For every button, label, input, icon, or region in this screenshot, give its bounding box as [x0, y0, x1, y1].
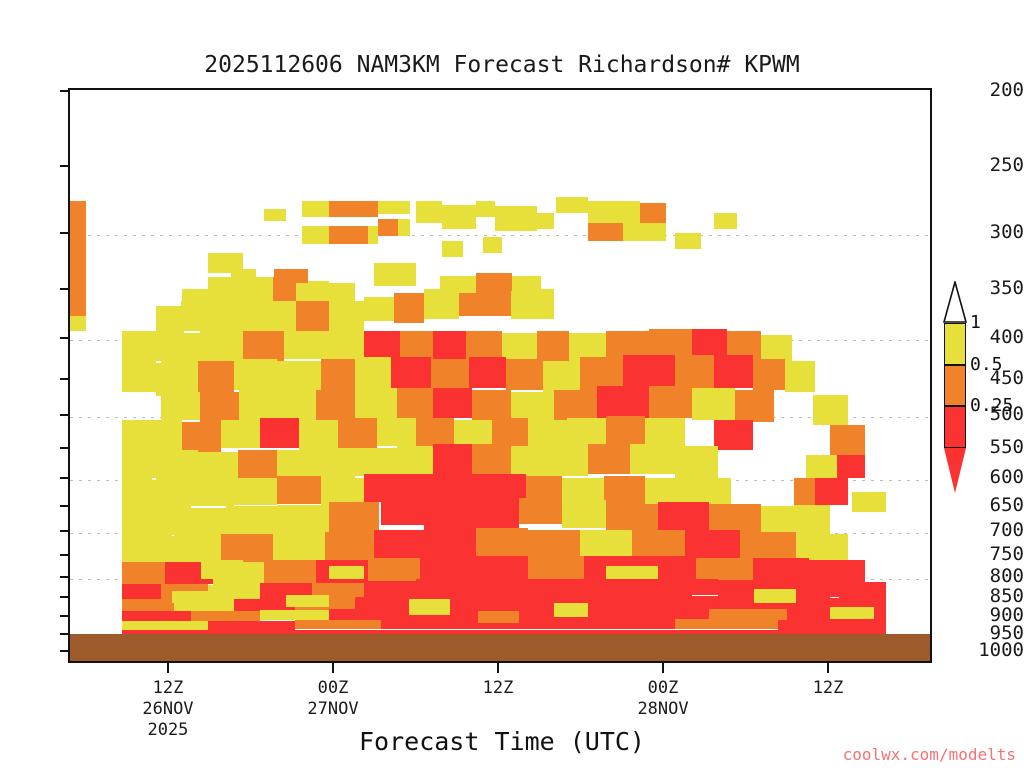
heatmap-cell	[374, 263, 415, 286]
heatmap-cell	[433, 444, 472, 474]
heatmap-cell	[446, 474, 485, 500]
heatmap-cell	[476, 273, 512, 291]
heatmap-cell	[397, 388, 433, 418]
heatmap-cell	[70, 316, 86, 331]
colorbar-below-arrow	[944, 448, 966, 493]
heatmap-cell	[433, 331, 466, 359]
heatmap-cell	[839, 582, 887, 598]
heatmap-cell	[740, 532, 796, 560]
heatmap-cell	[528, 530, 580, 558]
heatmap-cell	[785, 361, 814, 393]
y-axis-tick	[60, 615, 70, 617]
heatmap-cell	[416, 201, 442, 223]
heatmap-cell	[495, 206, 536, 231]
heatmap-cell	[329, 201, 377, 217]
x-axis-label: 12Z	[438, 678, 558, 699]
heatmap-cell	[172, 591, 208, 603]
heatmap-cell	[364, 581, 416, 597]
heatmap-cell	[409, 599, 450, 615]
heatmap-cell	[221, 420, 260, 448]
heatmap-cell	[398, 219, 409, 236]
heatmap-cell	[122, 621, 208, 630]
y-axis-tick	[60, 633, 70, 635]
x-axis-label-group: 00Z28NOV	[603, 678, 723, 720]
heatmap-cell	[426, 528, 476, 556]
heatmap-cell	[588, 223, 623, 241]
heatmap-cell	[472, 390, 511, 420]
heatmap-cell	[692, 388, 735, 420]
heatmap-cell	[391, 357, 431, 389]
heatmap-cell	[191, 611, 260, 621]
heatmap-cell	[809, 560, 865, 584]
heatmap-cell	[632, 608, 710, 619]
heatmap-cell	[416, 579, 476, 595]
heatmap-cell	[208, 621, 294, 630]
colorbar-segment	[944, 406, 966, 448]
y-axis-tick	[60, 288, 70, 290]
heatmap-cell	[580, 530, 632, 558]
heatmap-cell	[238, 450, 277, 478]
y-axis-label: 300	[968, 221, 1024, 243]
heatmap-cell	[483, 237, 502, 253]
heatmap-cell	[329, 502, 379, 532]
watermark: coolwx.com/modelts	[843, 745, 1016, 764]
heatmap-cell	[296, 301, 329, 331]
heatmap-cell	[182, 422, 221, 452]
heatmap-cell	[264, 560, 316, 584]
heatmap-cell	[355, 448, 396, 476]
plot-area	[68, 88, 932, 663]
heatmap-cell	[685, 530, 739, 558]
heatmap-cell	[198, 361, 234, 393]
heatmap-cell	[476, 201, 495, 217]
heatmap-cell	[226, 506, 278, 536]
heatmap-cell	[442, 205, 477, 229]
heatmap-cell	[597, 386, 649, 418]
heatmap-cell	[277, 505, 329, 535]
heatmap-cell	[181, 301, 210, 331]
heatmap-cell	[815, 478, 848, 505]
y-axis-tick	[60, 650, 70, 652]
y-axis-label: 200	[968, 79, 1024, 101]
heatmap-cell	[632, 530, 686, 558]
heatmap-cell	[424, 500, 519, 530]
heatmap-cell	[478, 611, 519, 623]
heatmap-cell	[442, 241, 464, 257]
x-axis-label-group: 12Z	[438, 678, 558, 699]
heatmap-cell	[321, 359, 356, 391]
heatmap-cell	[597, 579, 657, 595]
heatmap-cell	[273, 534, 325, 562]
heatmap-cell	[472, 444, 511, 474]
heatmap-cell	[433, 388, 472, 418]
heatmap-cell	[329, 226, 368, 244]
heatmap-cell	[753, 558, 809, 582]
heatmap-cell	[813, 395, 848, 425]
heatmap-cell	[338, 418, 377, 448]
heatmap-cell	[492, 418, 528, 446]
y-axis-label: 800	[968, 565, 1024, 587]
colorbar-tick-label: 0.25	[970, 395, 1013, 416]
y-axis-label: 600	[968, 466, 1024, 488]
heatmap-cell	[377, 418, 416, 446]
heatmap-cell	[321, 478, 364, 505]
heatmap-cell	[485, 474, 526, 500]
heatmap-cell	[260, 418, 299, 448]
heatmap-cell	[284, 331, 329, 359]
y-axis-label: 650	[968, 494, 1024, 516]
y-axis-tick	[60, 530, 70, 532]
heatmap-cell	[830, 425, 865, 455]
heatmap-cell	[277, 476, 320, 504]
heatmap-cell	[70, 201, 86, 315]
heatmap-cell	[397, 446, 433, 474]
colorbar-segment	[944, 365, 966, 407]
heatmap-cell	[286, 595, 329, 607]
heatmap-cell	[511, 289, 554, 319]
heatmap-cell	[122, 420, 144, 448]
heatmap-cell	[658, 579, 718, 595]
heatmap-cell	[735, 390, 774, 422]
heatmap-cell	[364, 297, 394, 321]
heatmap-cell	[440, 276, 476, 293]
heatmap-cell	[469, 357, 506, 389]
heatmap-cell	[852, 492, 887, 512]
x-axis-tick	[662, 663, 664, 673]
colorbar-tick-label: 1	[970, 312, 981, 333]
heatmap-cell	[675, 233, 701, 249]
x-axis-tick	[167, 663, 169, 673]
heatmap-cell	[543, 361, 579, 393]
heatmap-cell	[623, 355, 675, 389]
heatmap-cell	[645, 478, 688, 505]
x-axis-label: 12Z	[108, 678, 228, 699]
heatmap-cell	[122, 535, 172, 562]
heatmap-cell	[368, 226, 378, 244]
heatmap-cell	[606, 566, 658, 580]
y-axis-label: 750	[968, 543, 1024, 565]
page-title: 2025112606 NAM3KM Forecast Richardson# K…	[0, 52, 1004, 78]
heatmap-cell	[368, 558, 420, 582]
heatmap-cell	[528, 556, 584, 580]
heatmap-cell	[329, 566, 364, 580]
heatmap-cell	[556, 197, 589, 213]
heatmap-cell	[830, 607, 873, 619]
heatmap-cell	[191, 478, 234, 506]
heatmap-cell	[260, 610, 329, 620]
y-axis-label: 550	[968, 436, 1024, 458]
heatmap-cell	[604, 476, 645, 504]
heatmap-cell	[476, 556, 528, 580]
heatmap-cell	[156, 363, 197, 397]
heatmap-cell	[550, 446, 589, 476]
heatmap-cell	[424, 289, 459, 319]
y-axis-tick	[60, 232, 70, 234]
heatmap-cell	[277, 361, 320, 393]
heatmap-cell	[122, 331, 161, 361]
heatmap-cell	[122, 478, 152, 505]
heatmap-cell	[554, 390, 597, 420]
y-axis-label: 1000	[968, 639, 1024, 661]
y-axis-tick	[60, 414, 70, 416]
heatmap-cell	[374, 530, 426, 558]
heatmap-cell	[295, 620, 381, 629]
heatmap-cell	[122, 361, 157, 393]
x-axis-label: 27NOV	[273, 699, 393, 720]
heatmap-cell	[580, 357, 623, 391]
heatmap-cell	[537, 331, 570, 361]
y-axis-tick	[60, 576, 70, 578]
heatmap-cell	[675, 355, 714, 389]
heatmap-cell	[485, 595, 554, 608]
heatmap-cell	[316, 448, 355, 478]
heatmap-cell	[161, 392, 200, 420]
heatmap-cell	[264, 209, 286, 221]
heatmap-cell	[221, 534, 273, 562]
heatmap-cell	[152, 480, 191, 508]
heatmap-cell	[476, 528, 528, 556]
heatmap-cell	[506, 359, 543, 391]
heatmap-cell	[325, 532, 374, 560]
heatmap-cell	[122, 505, 174, 535]
heatmap-cell	[512, 276, 541, 293]
colorbar-tick-label: 0.5	[970, 354, 1003, 375]
colorbar-above-outline	[943, 281, 967, 323]
heatmap-cell	[571, 619, 675, 629]
heatmap-cell	[243, 331, 284, 361]
x-axis-label-group: 00Z27NOV	[273, 678, 393, 720]
heatmap-cell	[122, 599, 174, 611]
y-axis-tick	[60, 596, 70, 598]
y-axis-tick	[60, 165, 70, 167]
heatmap-cell	[623, 223, 666, 241]
x-axis-label: 00Z	[603, 678, 723, 699]
x-axis-tick	[332, 663, 334, 673]
heatmap-cell	[696, 558, 752, 582]
heatmap-cell	[714, 420, 753, 450]
y-axis-label: 700	[968, 519, 1024, 541]
heatmap-cell	[394, 293, 424, 323]
heatmap-cell	[122, 611, 191, 621]
heatmap-cell	[208, 277, 273, 301]
heatmap-cell	[519, 498, 562, 524]
heatmap-cell	[381, 498, 426, 525]
y-axis-tick	[60, 554, 70, 556]
heatmap-cell	[378, 201, 410, 214]
heatmap-cell	[754, 589, 795, 603]
forecast-sounding-chart: 2025112606 NAM3KM Forecast Richardson# K…	[0, 0, 1024, 768]
heatmap-cells	[70, 90, 930, 661]
heatmap-cell	[355, 388, 396, 420]
heatmap-cell	[714, 213, 737, 229]
heatmap-cell	[649, 386, 692, 418]
heatmap-cell	[378, 219, 399, 236]
heatmap-cell	[606, 416, 645, 446]
terrain-band	[68, 634, 932, 663]
heatmap-cell	[122, 584, 161, 599]
heatmap-cell	[511, 446, 550, 476]
heatmap-cell	[806, 455, 837, 480]
heatmap-cell	[778, 620, 886, 630]
heatmap-cell	[208, 585, 260, 600]
x-axis-tick	[497, 663, 499, 673]
heatmap-cell	[537, 213, 554, 229]
heatmap-cell	[675, 619, 779, 629]
heatmap-cell	[299, 420, 338, 450]
x-axis-label: 28NOV	[603, 699, 723, 720]
heatmap-cell	[316, 390, 355, 420]
colorbar: 10.50.25	[944, 323, 966, 448]
heatmap-cell	[630, 444, 675, 474]
heatmap-cell	[274, 269, 308, 283]
heatmap-cell	[420, 556, 476, 580]
heatmap-cell	[302, 201, 330, 217]
heatmap-cell	[122, 562, 165, 585]
heatmap-cell	[302, 226, 330, 244]
x-axis-label: 12Z	[768, 678, 888, 699]
x-axis-label-group: 12Z	[768, 678, 888, 699]
y-axis-tick	[60, 505, 70, 507]
y-axis-tick	[60, 447, 70, 449]
x-axis-label: 26NOV	[108, 699, 228, 720]
heatmap-cell	[234, 359, 277, 391]
y-axis-tick	[60, 337, 70, 339]
heatmap-cell	[416, 418, 455, 446]
x-axis-label: 00Z	[273, 678, 393, 699]
x-axis-tick	[827, 663, 829, 673]
heatmap-cell	[675, 446, 718, 478]
heatmap-cell	[537, 579, 597, 595]
heatmap-cell	[174, 508, 226, 538]
y-axis-tick	[60, 90, 70, 92]
heatmap-cell	[201, 560, 242, 580]
heatmap-cell	[234, 478, 277, 505]
heatmap-cell	[588, 201, 640, 223]
y-axis-tick	[60, 477, 70, 479]
heatmap-cell	[161, 333, 200, 366]
heatmap-cell	[588, 444, 629, 474]
heatmap-cell	[562, 500, 605, 528]
heatmap-cell	[658, 502, 710, 532]
y-axis-label: 350	[968, 277, 1024, 299]
heatmap-cell	[714, 355, 753, 389]
y-axis-tick	[60, 378, 70, 380]
heatmap-cell	[431, 359, 469, 391]
heatmap-cell	[623, 595, 692, 608]
y-axis-label: 250	[968, 154, 1024, 176]
colorbar-segment	[944, 323, 966, 365]
heatmap-cell	[476, 579, 536, 595]
heatmap-cell	[355, 357, 391, 391]
heatmap-cell	[554, 603, 589, 617]
heatmap-cell	[640, 203, 666, 223]
heatmap-cell	[381, 619, 476, 629]
heatmap-cell	[753, 359, 786, 391]
heatmap-cell	[122, 448, 157, 478]
